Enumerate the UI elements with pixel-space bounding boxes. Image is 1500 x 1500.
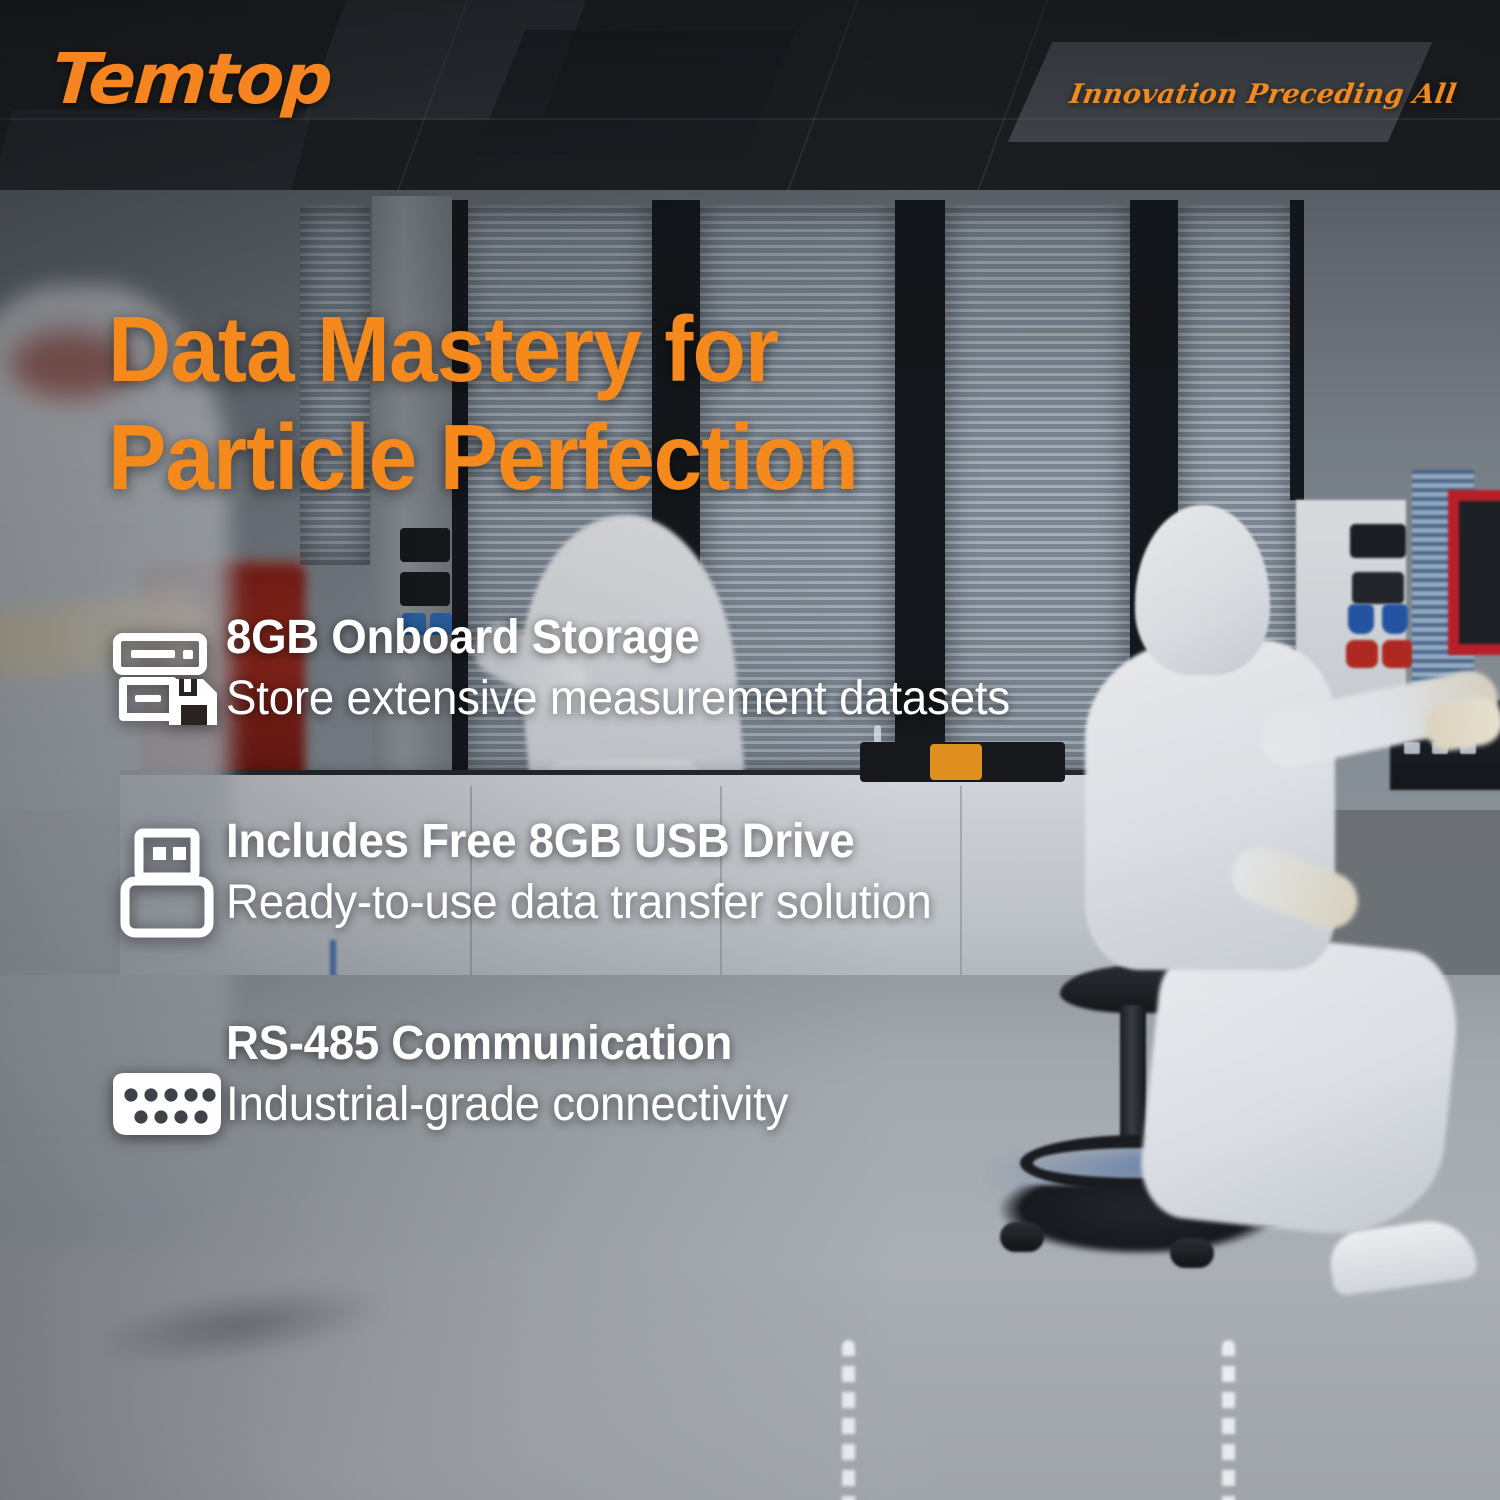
temtop-logo: Temtop xyxy=(50,44,334,114)
feature-text: Includes Free 8GB USB Drive Ready-to-use… xyxy=(226,816,969,929)
feature-subtitle: Industrial-grade connectivity xyxy=(226,1079,788,1131)
headline-line-1: Data Mastery for xyxy=(108,296,1057,404)
storage-drive-floppy-icon xyxy=(108,618,226,736)
headline-line-2: Particle Perfection xyxy=(108,404,1057,512)
usb-flash-drive-icon xyxy=(108,824,226,942)
feature-title: RS-485 Communication xyxy=(226,1020,788,1069)
feature-list: 8GB Onboard Storage Store extensive meas… xyxy=(108,612,1398,1164)
feature-subtitle: Store extensive measurement datasets xyxy=(226,673,1010,725)
headline: Data Mastery for Particle Perfection xyxy=(108,296,1057,512)
feature-item: 8GB Onboard Storage Store extensive meas… xyxy=(108,612,1398,736)
product-feature-banner: Temtop Innovation Preceding All Data Mas… xyxy=(0,0,1500,1500)
feature-text: RS-485 Communication Industrial-grade co… xyxy=(226,1018,818,1131)
feature-item: Includes Free 8GB USB Drive Ready-to-use… xyxy=(108,816,1398,942)
feature-item: RS-485 Communication Industrial-grade co… xyxy=(108,1018,1398,1164)
feature-subtitle: Ready-to-use data transfer solution xyxy=(226,877,932,929)
feature-text: 8GB Onboard Storage Store extensive meas… xyxy=(226,612,1051,725)
feature-title: Includes Free 8GB USB Drive xyxy=(226,818,932,867)
feature-title: 8GB Onboard Storage xyxy=(226,614,1010,663)
brand-tagline: Innovation Preceding All xyxy=(1067,79,1458,110)
db9-serial-connector-icon xyxy=(108,1046,226,1164)
overlay-content: Temtop Innovation Preceding All Data Mas… xyxy=(0,0,1500,1500)
